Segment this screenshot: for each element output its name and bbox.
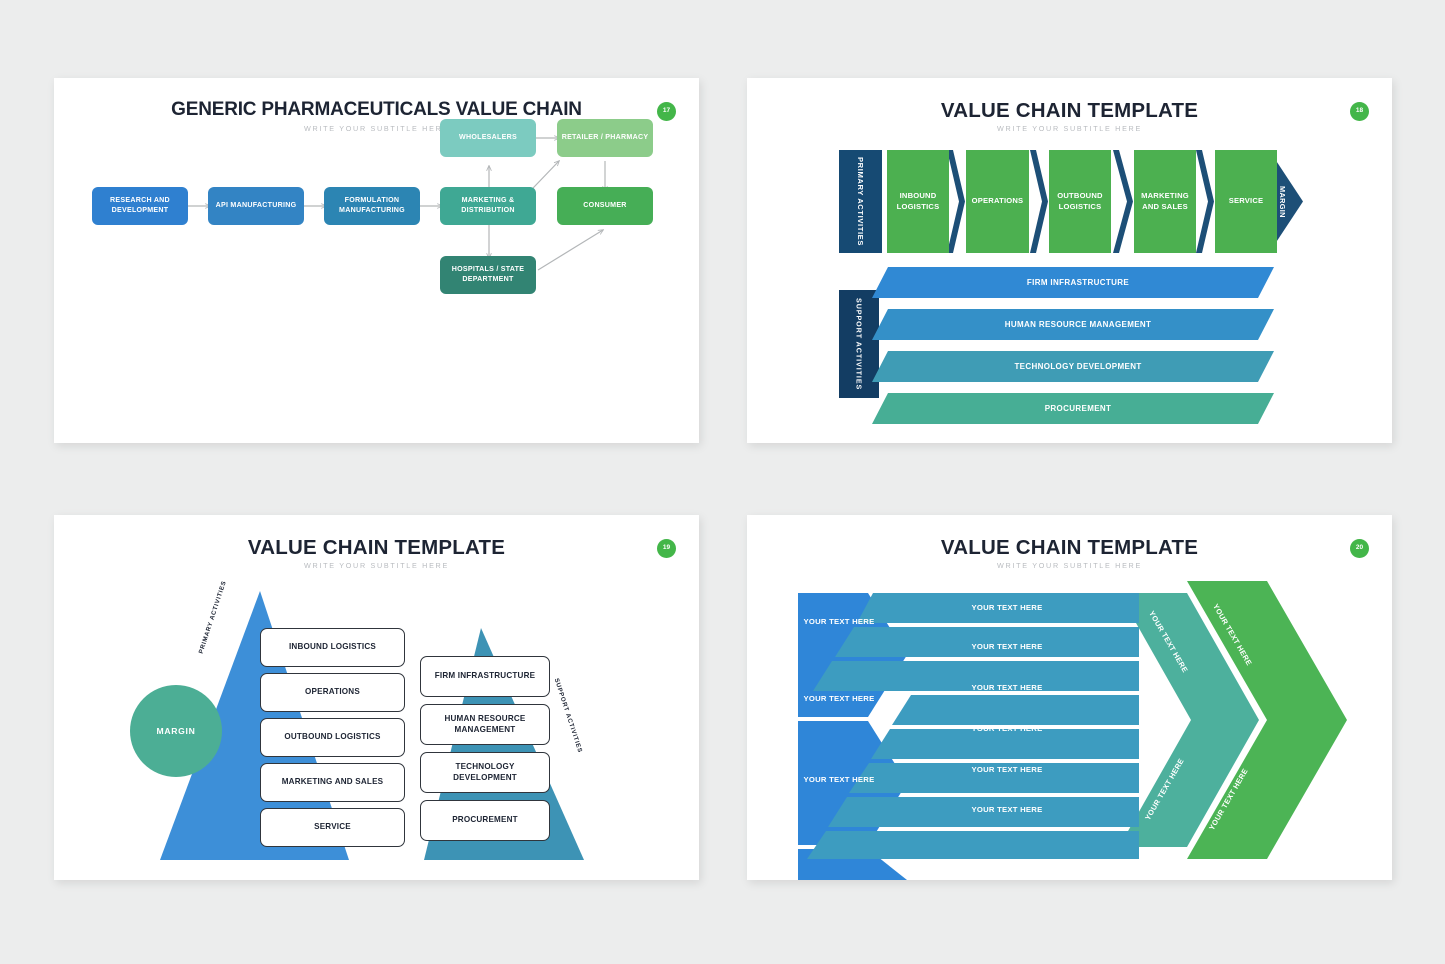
- support-activity-label: HUMAN RESOURCE MANAGEMENT: [1005, 320, 1152, 329]
- support-box-firm-infrastructure[interactable]: FIRM INFRASTRUCTURE: [420, 656, 550, 697]
- flow-node-wholesalers[interactable]: WHOLESALERS: [440, 119, 536, 157]
- flow-node-formulation-manufacturing[interactable]: FORMULATION MANUFACTURING: [324, 187, 420, 225]
- margin-label: MARGIN: [1273, 171, 1290, 233]
- primary-activity-label: MARKETING AND SALES: [1134, 191, 1196, 212]
- support-activity-label: FIRM INFRASTRUCTURE: [1027, 278, 1129, 287]
- row-text: YOUR TEXT HERE: [972, 724, 1043, 734]
- primary-activity-marketing-and-sales[interactable]: MARKETING AND SALES: [1134, 150, 1196, 253]
- page-title: VALUE CHAIN TEMPLATE: [747, 536, 1392, 560]
- primary-activities-label: PRIMARY ACTIVITIES: [839, 150, 882, 253]
- primary-activity-label: OUTBOUND LOGISTICS: [1049, 191, 1111, 212]
- primary-activity-label: INBOUND LOGISTICS: [887, 191, 949, 212]
- support-box-label: HUMAN RESOURCE MANAGEMENT: [426, 714, 544, 735]
- flow-node-label: MARKETING & DISTRIBUTION: [444, 196, 532, 215]
- row-text: YOUR TEXT HERE: [972, 765, 1043, 775]
- page-number-badge: 20: [1350, 539, 1369, 558]
- support-activity-procurement[interactable]: PROCUREMENT: [888, 393, 1268, 424]
- primary-activities-label-text: PRIMARY ACTIVITIES: [856, 157, 865, 246]
- flow-node-marketing-distribution[interactable]: MARKETING & DISTRIBUTION: [440, 187, 536, 225]
- group-head-label-2[interactable]: YOUR TEXT HERE: [798, 677, 880, 721]
- support-box-technology-development[interactable]: TECHNOLOGY DEVELOPMENT: [420, 752, 550, 793]
- support-activities-label: SUPPORT ACTIVITIES: [553, 677, 584, 753]
- support-box-label: FIRM INFRASTRUCTURE: [435, 671, 535, 682]
- page-title: GENERIC PHARMACEUTICALS VALUE CHAIN: [54, 99, 699, 121]
- primary-activity-label: OPERATIONS: [972, 196, 1024, 206]
- flow-node-label: RESEARCH AND DEVELOPMENT: [96, 196, 184, 215]
- slide-generic-pharmaceuticals-value-chain[interactable]: GENERIC PHARMACEUTICALS VALUE CHAIN WRIT…: [54, 78, 699, 443]
- primary-box-label: SERVICE: [314, 822, 351, 833]
- support-activities-label-text: SUPPORT ACTIVITIES: [553, 677, 584, 753]
- tail-label-inner-upper[interactable]: YOUR TEXT HERE: [1147, 609, 1190, 674]
- primary-box-label: MARKETING AND SALES: [282, 777, 384, 788]
- page-number-badge: 18: [1350, 102, 1369, 121]
- support-activity-technology-development[interactable]: TECHNOLOGY DEVELOPMENT: [888, 351, 1268, 382]
- primary-activity-label: SERVICE: [1229, 196, 1264, 206]
- slide-deck: GENERIC PHARMACEUTICALS VALUE CHAIN WRIT…: [0, 0, 1445, 964]
- row-label-1-2[interactable]: YOUR TEXT HERE: [907, 637, 1107, 657]
- support-box-label: TECHNOLOGY DEVELOPMENT: [426, 762, 544, 783]
- primary-box-marketing-and-sales[interactable]: MARKETING AND SALES: [260, 763, 405, 802]
- primary-activity-outbound-logistics[interactable]: OUTBOUND LOGISTICS: [1049, 150, 1111, 253]
- row-label-3-2[interactable]: YOUR TEXT HERE: [907, 800, 1107, 820]
- margin-circle: MARGIN: [130, 685, 222, 777]
- row-label-1-1[interactable]: YOUR TEXT HERE: [907, 598, 1107, 618]
- primary-box-label: OPERATIONS: [305, 687, 360, 698]
- primary-box-label: OUTBOUND LOGISTICS: [284, 732, 380, 743]
- flow-node-api-manufacturing[interactable]: API MANUFACTURING: [208, 187, 304, 225]
- row-label-2-2[interactable]: YOUR TEXT HERE: [907, 719, 1107, 739]
- primary-activities-label: PRIMARY ACTIVITIES: [198, 580, 228, 655]
- row-text: YOUR TEXT HERE: [972, 603, 1043, 613]
- primary-activities-label-text: PRIMARY ACTIVITIES: [198, 580, 228, 655]
- slide-value-chain-chevron[interactable]: VALUE CHAIN TEMPLATE WRITE YOUR SUBTITLE…: [747, 78, 1392, 443]
- row-label-3-1[interactable]: YOUR TEXT HERE: [907, 760, 1107, 780]
- group-head-label-1[interactable]: YOUR TEXT HERE: [798, 600, 880, 644]
- margin-label-text: MARGIN: [1277, 186, 1286, 218]
- support-box-human-resource-management[interactable]: HUMAN RESOURCE MANAGEMENT: [420, 704, 550, 745]
- support-box-label: PROCUREMENT: [452, 815, 518, 826]
- row-shape-8: [807, 831, 1139, 859]
- primary-box-inbound-logistics[interactable]: INBOUND LOGISTICS: [260, 628, 405, 667]
- flow-node-hospitals-state-department[interactable]: HOSPITALS / STATE DEPARTMENT: [440, 256, 536, 294]
- tail-text: YOUR TEXT HERE: [1147, 609, 1190, 674]
- page-subtitle: WRITE YOUR SUBTITLE HERE: [747, 124, 1392, 133]
- support-activities-label-text: SUPPORT ACTIVITIES: [855, 298, 864, 390]
- page-subtitle: WRITE YOUR SUBTITLE HERE: [747, 561, 1392, 570]
- flow-node-label: FORMULATION MANUFACTURING: [328, 196, 416, 215]
- primary-box-operations[interactable]: OPERATIONS: [260, 673, 405, 712]
- slide-value-chain-arrow-stack[interactable]: VALUE CHAIN TEMPLATE WRITE YOUR SUBTITLE…: [747, 515, 1392, 880]
- page-number-badge: 19: [657, 539, 676, 558]
- support-activity-label: TECHNOLOGY DEVELOPMENT: [1014, 362, 1141, 371]
- group-head-text: YOUR TEXT HERE: [804, 617, 875, 627]
- tail-label-inner-lower[interactable]: YOUR TEXT HERE: [1143, 757, 1186, 822]
- tail-arrow-outer: [1187, 581, 1347, 859]
- margin-circle-label: MARGIN: [156, 726, 195, 736]
- support-activity-label: PROCUREMENT: [1045, 404, 1112, 413]
- tail-label-outer-upper[interactable]: YOUR TEXT HERE: [1211, 602, 1254, 667]
- row-text: YOUR TEXT HERE: [972, 642, 1043, 652]
- primary-activity-inbound-logistics[interactable]: INBOUND LOGISTICS: [887, 150, 949, 253]
- tail-text: YOUR TEXT HERE: [1211, 602, 1254, 667]
- group-head-text: YOUR TEXT HERE: [804, 775, 875, 785]
- row-text: YOUR TEXT HERE: [972, 805, 1043, 815]
- flow-node-label: HOSPITALS / STATE DEPARTMENT: [444, 265, 532, 284]
- primary-activity-operations[interactable]: OPERATIONS: [966, 150, 1029, 253]
- flow-node-label: RETAILER / PHARMACY: [562, 133, 649, 143]
- primary-activity-service[interactable]: SERVICE: [1215, 150, 1277, 253]
- tail-label-outer-lower[interactable]: YOUR TEXT HERE: [1207, 767, 1250, 832]
- slide-value-chain-pyramid[interactable]: VALUE CHAIN TEMPLATE WRITE YOUR SUBTITLE…: [54, 515, 699, 880]
- head-block-3: [798, 849, 907, 880]
- primary-box-service[interactable]: SERVICE: [260, 808, 405, 847]
- group-head-text: YOUR TEXT HERE: [804, 694, 875, 704]
- flow-node-retailer-pharmacy[interactable]: RETAILER / PHARMACY: [557, 119, 653, 157]
- group-head-label-3[interactable]: YOUR TEXT HERE: [798, 758, 880, 802]
- primary-box-label: INBOUND LOGISTICS: [289, 642, 376, 653]
- page-title: VALUE CHAIN TEMPLATE: [747, 99, 1392, 123]
- row-label-2-1[interactable]: YOUR TEXT HERE: [907, 678, 1107, 698]
- tail-text: YOUR TEXT HERE: [1143, 757, 1186, 822]
- support-activities-label: SUPPORT ACTIVITIES: [839, 290, 879, 398]
- tail-arrow-inner: [1119, 593, 1259, 847]
- page-subtitle: WRITE YOUR SUBTITLE HERE: [54, 561, 699, 570]
- flow-node-label: CONSUMER: [583, 201, 626, 211]
- support-activity-human-resource-management[interactable]: HUMAN RESOURCE MANAGEMENT: [888, 309, 1268, 340]
- row-text: YOUR TEXT HERE: [972, 683, 1043, 693]
- flow-node-label: API MANUFACTURING: [216, 201, 297, 211]
- flow-node-consumer[interactable]: CONSUMER: [557, 187, 653, 225]
- flow-node-research-and-development[interactable]: RESEARCH AND DEVELOPMENT: [92, 187, 188, 225]
- flow-node-label: WHOLESALERS: [459, 133, 517, 143]
- primary-box-outbound-logistics[interactable]: OUTBOUND LOGISTICS: [260, 718, 405, 757]
- support-activity-firm-infrastructure[interactable]: FIRM INFRASTRUCTURE: [888, 267, 1268, 298]
- support-box-procurement[interactable]: PROCUREMENT: [420, 800, 550, 841]
- page-title: VALUE CHAIN TEMPLATE: [54, 536, 699, 560]
- tail-text: YOUR TEXT HERE: [1207, 767, 1250, 832]
- page-number-badge: 17: [657, 102, 676, 121]
